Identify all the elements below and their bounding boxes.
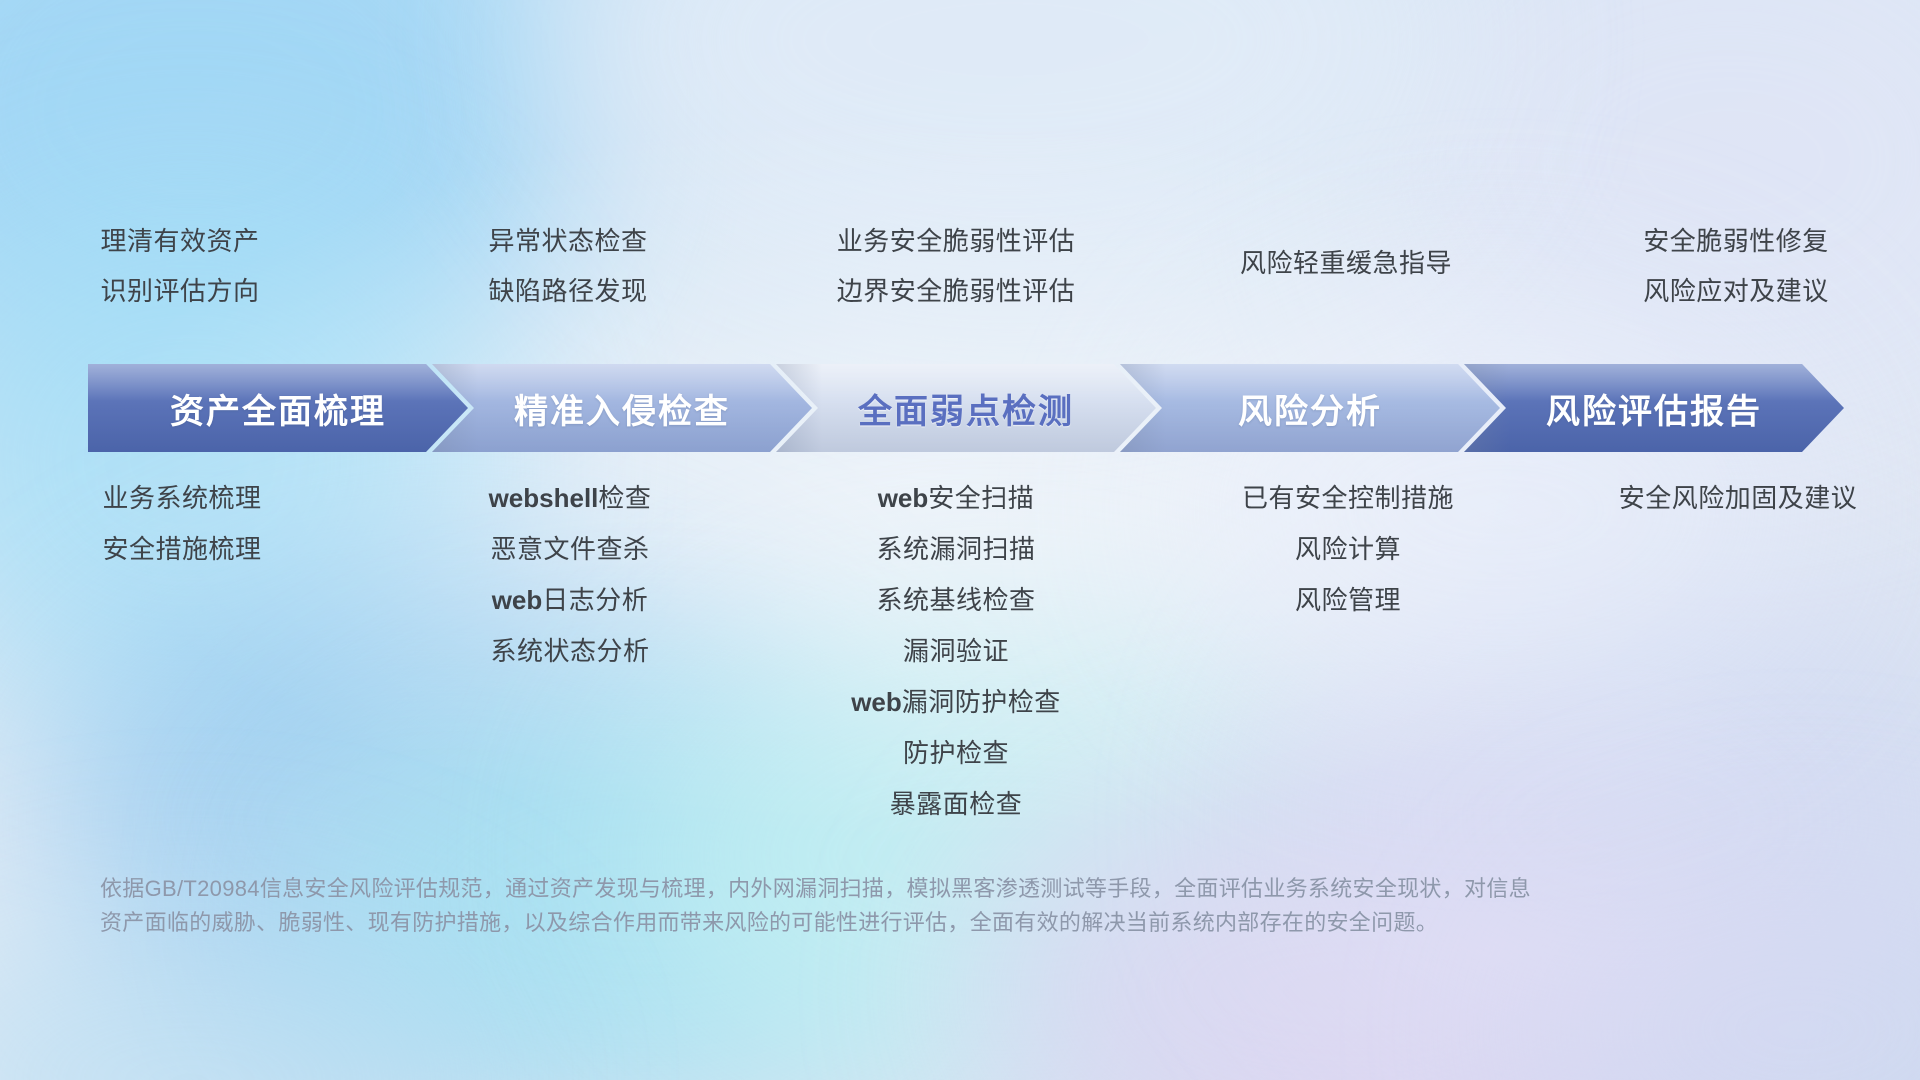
activity-item-prefix: web	[492, 585, 543, 615]
activity-column-risk-analysis: 已有安全控制措施风险计算风险管理	[1156, 485, 1540, 817]
outcome-column-report: 安全脆弱性修复风险应对及建议	[1544, 228, 1920, 304]
process-stage-asset[interactable]: 资产全面梳理	[88, 364, 468, 452]
slide-canvas: 理清有效资产识别评估方向异常状态检查缺陷路径发现业务安全脆弱性评估边界安全脆弱性…	[0, 0, 1920, 1080]
outcome-item: 边界安全脆弱性评估	[837, 278, 1076, 304]
activity-item: 恶意文件查杀	[490, 536, 649, 562]
activity-item: 系统状态分析	[490, 638, 649, 664]
outcome-item: 异常状态检查	[488, 228, 647, 254]
footnote-line-1: 依据GB/T20984信息安全风险评估规范，通过资产发现与梳理，内外网漏洞扫描，…	[100, 872, 1840, 906]
activity-item-prefix: webshell	[489, 483, 599, 513]
activity-item: webshell检查	[489, 485, 652, 511]
process-stage-label: 资产全面梳理	[170, 384, 386, 433]
activity-column-asset: 业务系统梳理安全措施梳理	[0, 485, 374, 817]
activity-item: 业务系统梳理	[102, 485, 261, 511]
activity-column-intrusion: webshell检查恶意文件查杀web日志分析系统状态分析	[378, 485, 762, 817]
activity-column-weakness: web安全扫描系统漏洞扫描系统基线检查漏洞验证web漏洞防护检查防护检查暴露面检…	[764, 485, 1148, 817]
activity-row-bottom: 业务系统梳理安全措施梳理webshell检查恶意文件查杀web日志分析系统状态分…	[0, 485, 1920, 817]
outcome-item: 风险轻重缓急指导	[1240, 250, 1452, 276]
activity-item: 风险管理	[1295, 587, 1401, 613]
activity-item: 风险计算	[1295, 536, 1401, 562]
activity-item-text: 检查	[598, 483, 651, 513]
process-stage-report[interactable]: 风险评估报告	[1464, 364, 1844, 452]
activity-item: 安全风险加固及建议	[1619, 485, 1858, 511]
outcome-item: 安全脆弱性修复	[1643, 228, 1829, 254]
process-stage-label: 风险分析	[1238, 384, 1382, 433]
process-stage-label: 全面弱点检测	[858, 384, 1074, 433]
outcome-item: 理清有效资产	[100, 228, 259, 254]
process-stage-label: 风险评估报告	[1546, 384, 1762, 433]
outcome-row-top: 理清有效资产识别评估方向异常状态检查缺陷路径发现业务安全脆弱性评估边界安全脆弱性…	[0, 228, 1920, 304]
activity-column-report: 安全风险加固及建议	[1546, 485, 1920, 817]
activity-item: web日志分析	[492, 587, 649, 613]
outcome-column-intrusion: 异常状态检查缺陷路径发现	[376, 228, 760, 304]
activity-item: 系统漏洞扫描	[876, 536, 1035, 562]
activity-item-prefix: web	[878, 483, 929, 513]
process-arrow-band: 资产全面梳理精准入侵检查全面弱点检测风险分析风险评估报告	[88, 364, 1844, 452]
outcome-item: 业务安全脆弱性评估	[837, 228, 1076, 254]
activity-item-text: 日志分析	[542, 585, 648, 615]
activity-item: 防护检查	[903, 740, 1009, 766]
outcome-column-asset: 理清有效资产识别评估方向	[0, 228, 372, 304]
activity-item: 安全措施梳理	[102, 536, 261, 562]
activity-item: 系统基线检查	[876, 587, 1035, 613]
outcome-item: 识别评估方向	[100, 278, 259, 304]
activity-item-text: 漏洞防护检查	[902, 687, 1061, 717]
activity-item: 漏洞验证	[903, 638, 1009, 664]
process-stage-label: 精准入侵检查	[514, 384, 730, 433]
outcome-item: 风险应对及建议	[1643, 278, 1829, 304]
activity-item: web安全扫描	[878, 485, 1035, 511]
activity-item: 暴露面检查	[890, 791, 1023, 817]
activity-item-text: 安全扫描	[928, 483, 1034, 513]
footnote-line-2: 资产面临的威胁、脆弱性、现有防护措施，以及综合作用而带来风险的可能性进行评估，全…	[100, 906, 1840, 940]
activity-item-prefix: web	[851, 687, 902, 717]
activity-item: 已有安全控制措施	[1242, 485, 1454, 511]
outcome-column-weakness: 业务安全脆弱性评估边界安全脆弱性评估	[764, 228, 1148, 304]
activity-item: web漏洞防护检查	[851, 689, 1061, 715]
process-stage-intrusion[interactable]: 精准入侵检查	[432, 364, 812, 452]
process-stage-risk-analysis[interactable]: 风险分析	[1120, 364, 1500, 452]
outcome-item: 缺陷路径发现	[488, 278, 647, 304]
outcome-column-risk-analysis: 风险轻重缓急指导	[1154, 250, 1538, 326]
process-stage-weakness[interactable]: 全面弱点检测	[776, 364, 1156, 452]
footnote: 依据GB/T20984信息安全风险评估规范，通过资产发现与梳理，内外网漏洞扫描，…	[100, 872, 1840, 940]
